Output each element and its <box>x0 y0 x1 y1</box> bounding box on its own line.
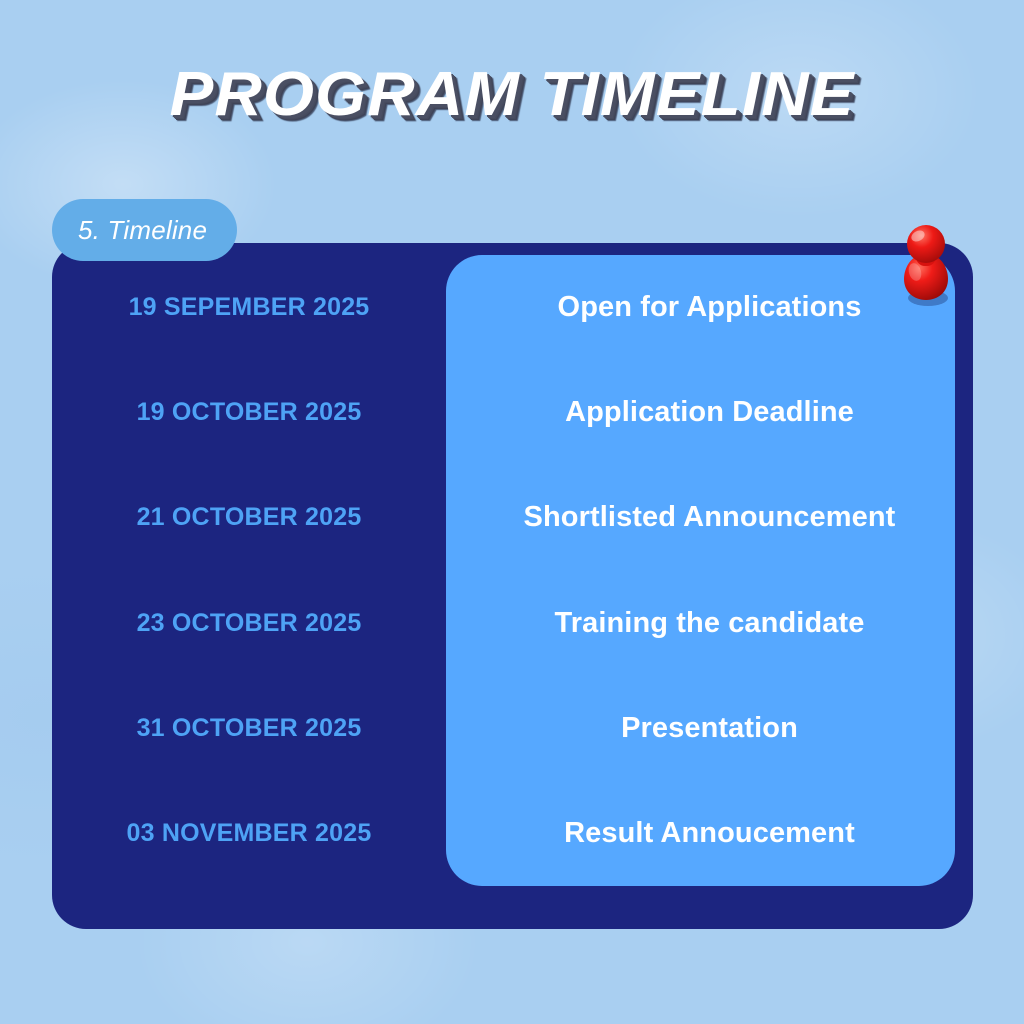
timeline-row: 21 OCTOBER 2025Shortlisted Announcement <box>52 465 973 570</box>
section-badge-label: 5. Timeline <box>78 215 207 246</box>
timeline-row-date: 19 SEPEMBER 2025 <box>52 293 446 322</box>
timeline-row-date: 21 OCTOBER 2025 <box>52 503 446 532</box>
timeline-row: 03 NOVEMBER 2025Result Annoucement <box>52 781 973 886</box>
timeline-row-event: Application Deadline <box>446 396 973 429</box>
timeline-rows: 19 SEPEMBER 2025Open for Applications19 … <box>52 255 973 886</box>
timeline-row-date: 03 NOVEMBER 2025 <box>52 819 446 848</box>
timeline-row-date: 23 OCTOBER 2025 <box>52 609 446 638</box>
timeline-row: 19 SEPEMBER 2025Open for Applications <box>52 255 973 360</box>
timeline-row: 19 OCTOBER 2025Application Deadline <box>52 360 973 465</box>
section-badge[interactable]: 5. Timeline <box>52 199 237 261</box>
timeline-row-event: Presentation <box>446 712 973 745</box>
timeline-row-date: 19 OCTOBER 2025 <box>52 398 446 427</box>
timeline-row-event: Training the candidate <box>446 607 973 640</box>
slide-stage: PROGRAM TIMELINE 5. Timeline 19 SEPEMBER… <box>0 0 1024 1024</box>
timeline-row: 31 OCTOBER 2025Presentation <box>52 676 973 781</box>
timeline-row: 23 OCTOBER 2025Training the candidate <box>52 571 973 676</box>
timeline-row-date: 31 OCTOBER 2025 <box>52 714 446 743</box>
timeline-row-event: Shortlisted Announcement <box>446 501 973 534</box>
pushpin-icon <box>898 224 954 308</box>
timeline-row-event: Result Annoucement <box>446 817 973 850</box>
page-title: PROGRAM TIMELINE <box>0 64 1024 126</box>
timeline-row-event: Open for Applications <box>446 291 973 324</box>
